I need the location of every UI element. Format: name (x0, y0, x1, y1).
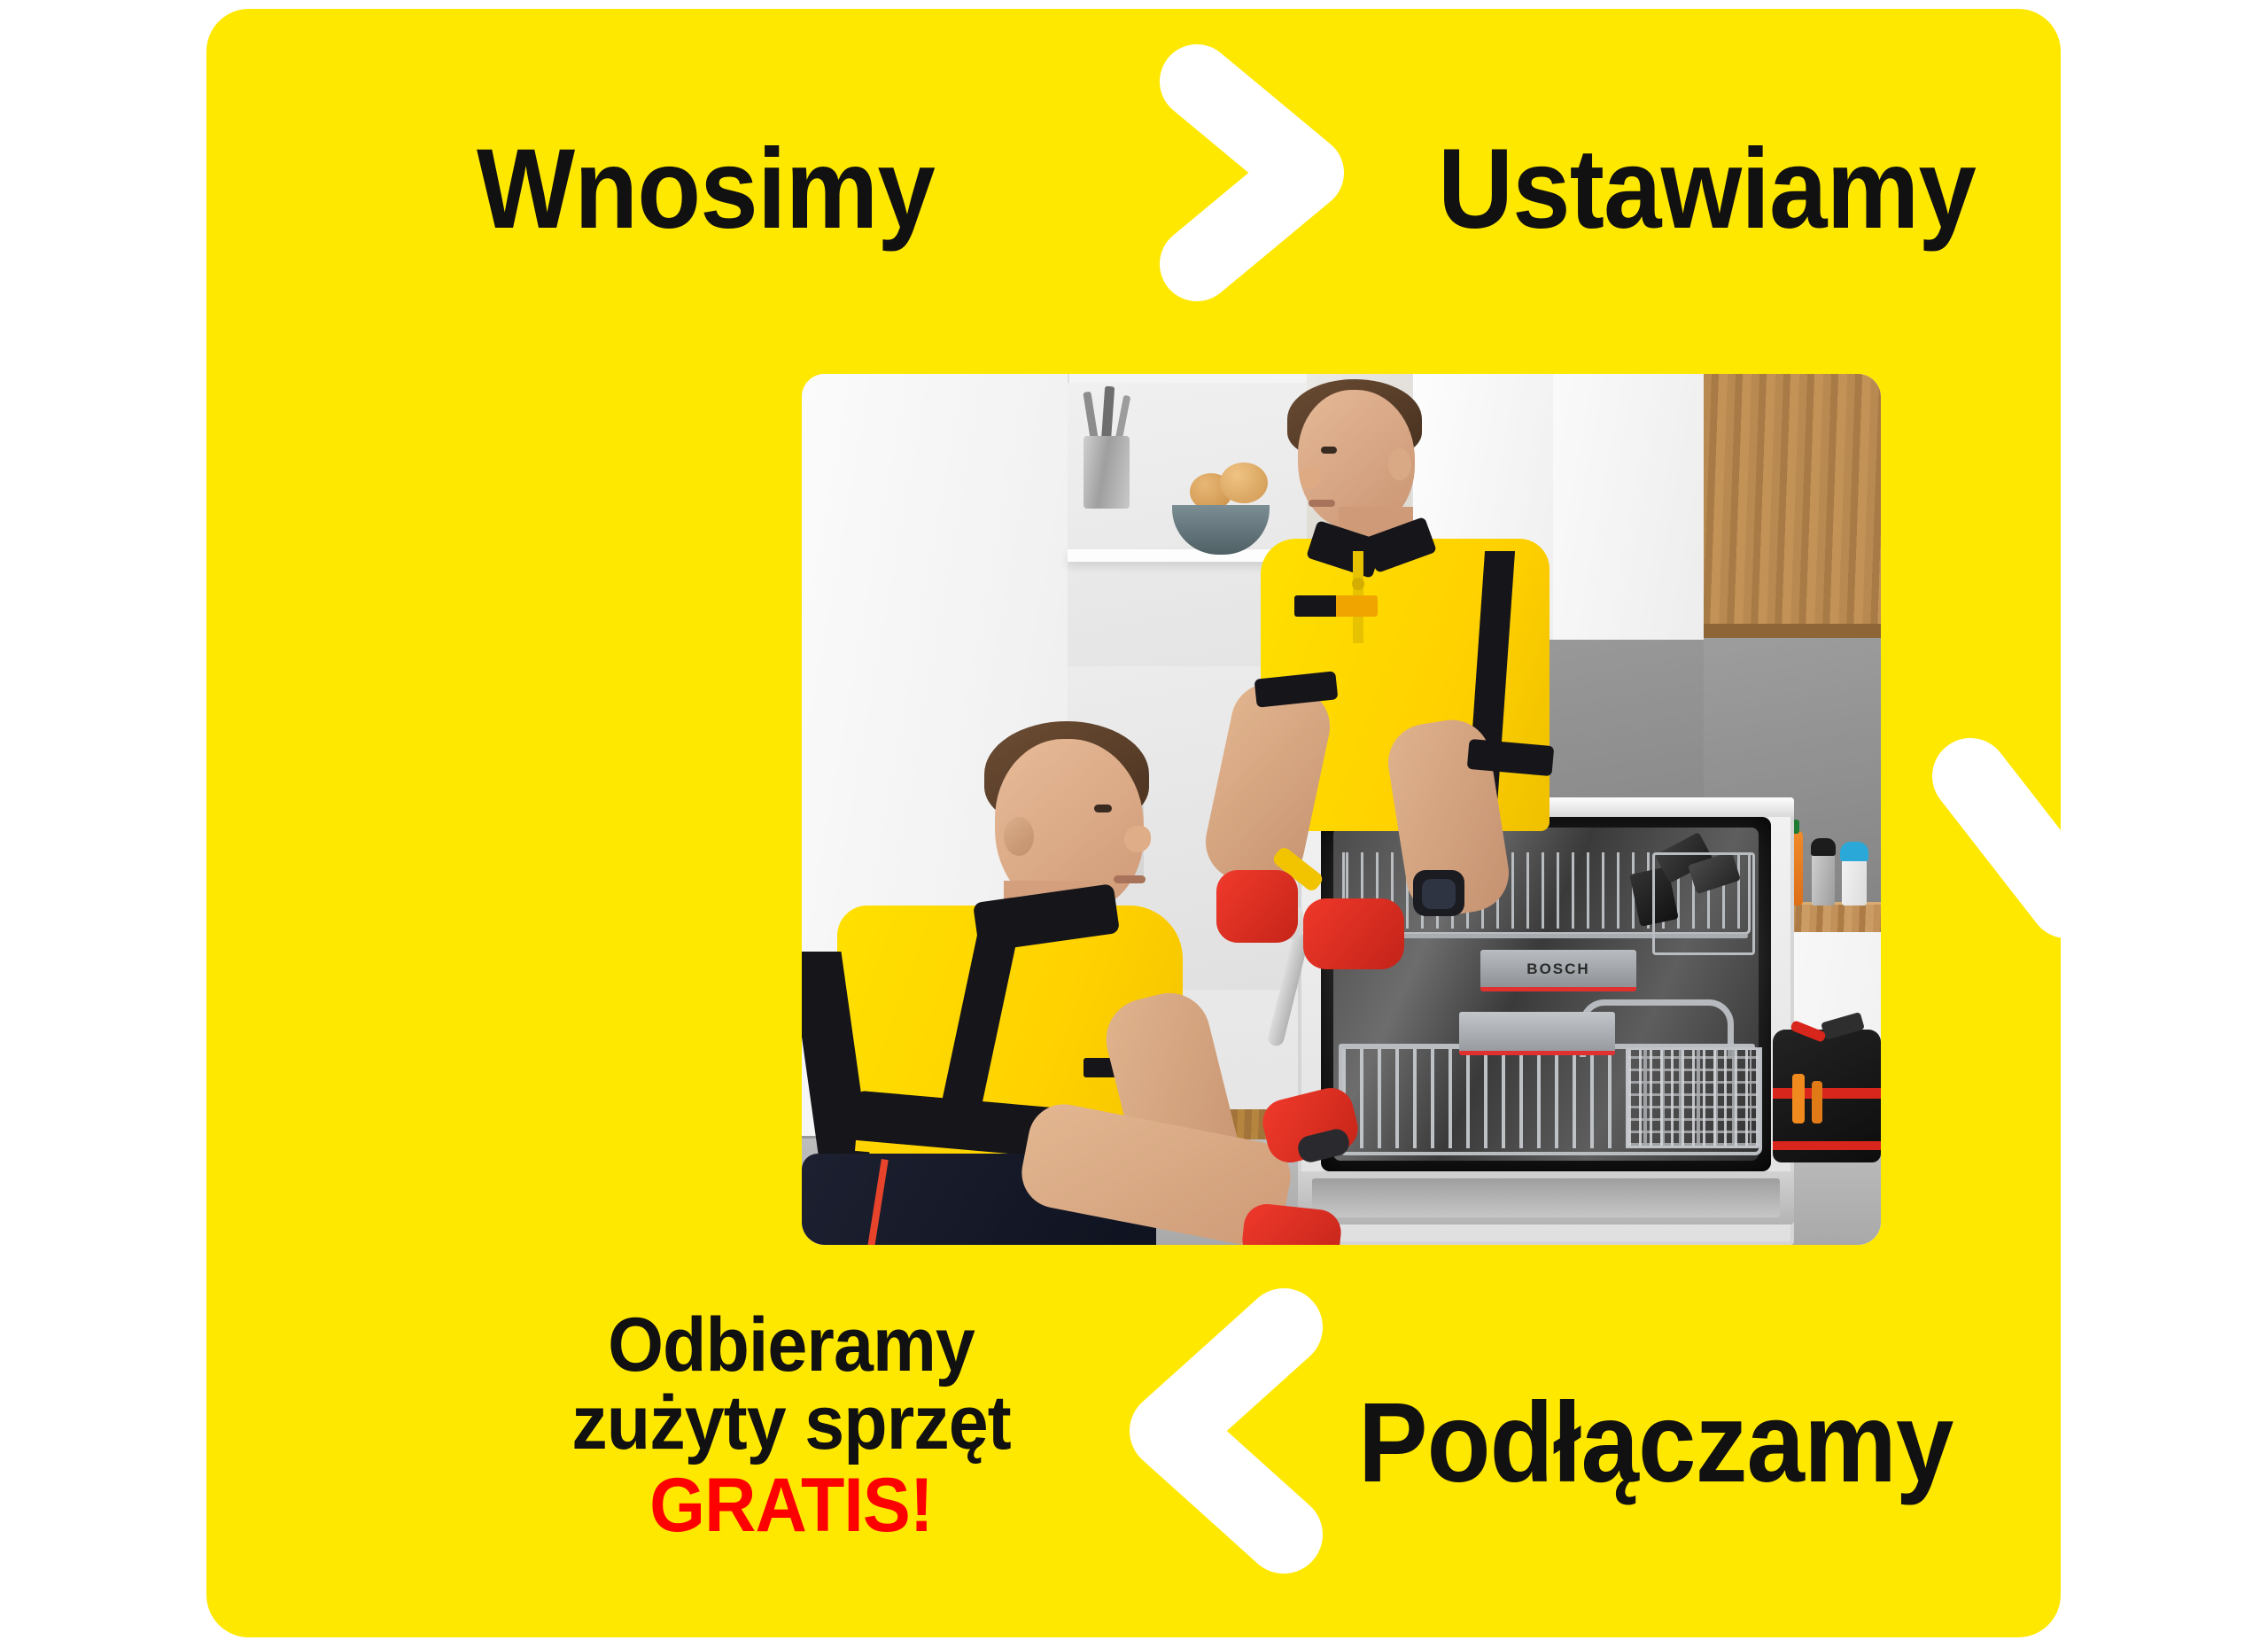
step-label-ustawiamy: Ustawiamy (1438, 133, 1976, 246)
pepper-grinder (1812, 852, 1835, 906)
chevron-left-icon (1110, 1285, 1332, 1577)
tool-bag-band-lower (1773, 1141, 1881, 1150)
tool-screwdriver-b (1812, 1081, 1822, 1123)
technician1-mouth (1114, 875, 1146, 883)
technician1-nose (1124, 826, 1151, 852)
technician1-ear (1004, 817, 1034, 856)
technician2-ear (1388, 448, 1411, 480)
dishwasher-brand-label: BOSCH (1480, 960, 1636, 978)
step-label-wnosimy: Wnosimy (477, 133, 935, 246)
technician2-mouth (1309, 500, 1335, 507)
tool-screwdriver-a (1792, 1074, 1805, 1123)
bread-roll-b (1220, 463, 1268, 503)
technician2-watch-face (1422, 879, 1456, 909)
salt-shaker (1842, 859, 1867, 906)
cutlery-basket (1626, 1047, 1760, 1148)
offer-block: Odbieramy zużyty sprzęt GRATIS! (481, 1307, 1101, 1545)
dishwasher-lower-panel (1459, 1012, 1615, 1055)
dishwasher-door-inner (1312, 1178, 1780, 1217)
tool-bag-band-upper (1773, 1088, 1881, 1099)
technician2-glove-left (1216, 870, 1298, 943)
wood-upper-cabinet (1704, 374, 1881, 631)
salt-shaker-cap (1840, 842, 1868, 861)
step-label-podlaczamy: Podłączamy (1358, 1387, 1953, 1500)
wood-cabinet-edge (1704, 624, 1881, 638)
cabinet-center-right (1553, 374, 1704, 640)
technician2-nose (1300, 466, 1321, 489)
chevron-right-icon (1154, 44, 1349, 301)
technician2-glove-right (1303, 898, 1404, 969)
offer-gratis-badge: GRATIS! (500, 1467, 1083, 1545)
technician2-eye (1321, 447, 1337, 454)
installation-photo: BOSCH (802, 374, 1881, 1245)
technician2-button (1352, 578, 1364, 590)
offer-line-1: Odbieramy (500, 1307, 1083, 1385)
technician1-eye (1094, 805, 1112, 812)
dishwasher-side-rack (1652, 852, 1755, 955)
offer-line-2: zużyty sprzęt (500, 1385, 1083, 1463)
chevron-down-icon (1930, 735, 2204, 957)
utensil-holder (1084, 436, 1130, 509)
technician2-chest-logo (1294, 595, 1378, 617)
pepper-grinder-cap (1811, 838, 1836, 856)
yellow-card: BOSCH (206, 9, 2061, 1637)
banner-root: BOSCH (0, 0, 2268, 1648)
